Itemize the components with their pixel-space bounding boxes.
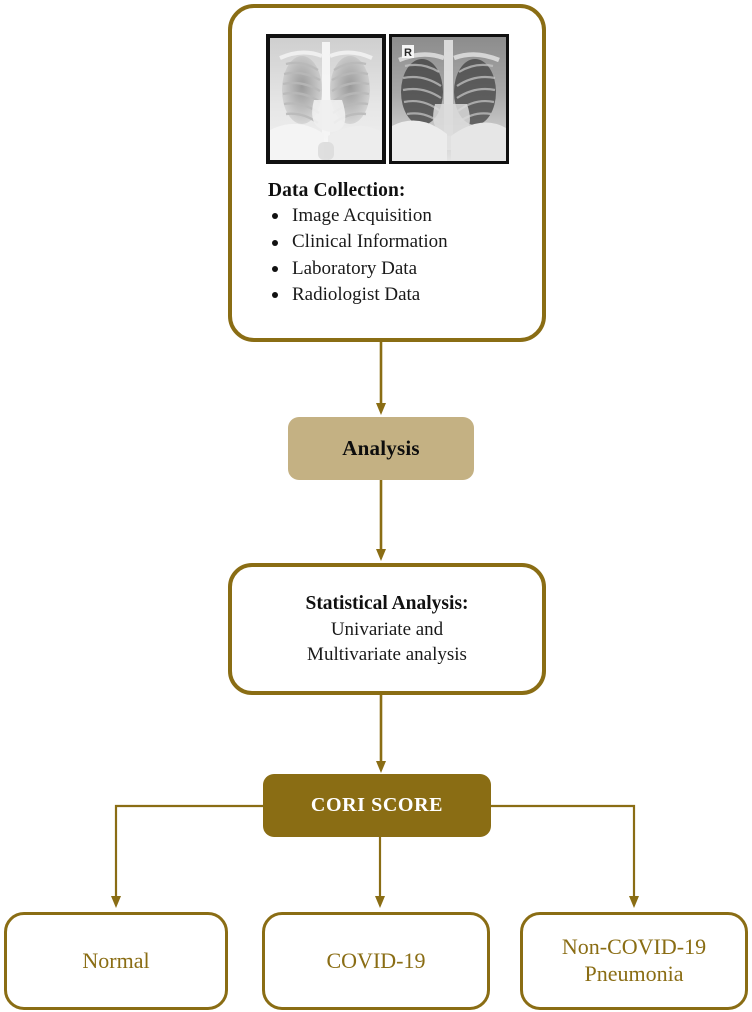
- data-collection-list: Image Acquisition Clinical Information L…: [268, 203, 542, 309]
- xray-image-pair: R: [266, 34, 509, 164]
- list-item: Image Acquisition: [268, 203, 542, 229]
- node-analysis: Analysis: [288, 417, 474, 480]
- outcome-covid19-label: COVID-19: [327, 948, 426, 975]
- chest-xray-right-image: R: [389, 34, 509, 164]
- list-item: Laboratory Data: [268, 256, 542, 282]
- chest-xray-left-image: [266, 34, 386, 164]
- node-outcome-covid19: COVID-19: [262, 912, 490, 1010]
- list-item-label: Clinical Information: [292, 231, 448, 252]
- outcome-non-covid-label: Non-COVID-19: [562, 934, 706, 961]
- list-item-label: Radiologist Data: [292, 284, 420, 305]
- statistical-analysis-line-2: Multivariate analysis: [307, 642, 467, 667]
- bullet-icon: [272, 292, 278, 298]
- node-outcome-normal: Normal: [4, 912, 228, 1010]
- analysis-label: Analysis: [342, 436, 419, 461]
- node-data-collection: R Data Collection: Image Acquisition Cli…: [228, 4, 546, 342]
- statistical-analysis-title: Statistical Analysis:: [305, 591, 468, 617]
- data-collection-title: Data Collection:: [268, 180, 542, 202]
- bullet-icon: [272, 213, 278, 219]
- list-item-label: Laboratory Data: [292, 258, 417, 279]
- statistical-analysis-line-1: Univariate and: [331, 617, 443, 642]
- flowchart-canvas: R Data Collection: Image Acquisition Cli…: [0, 0, 752, 1012]
- outcome-non-covid-label-2: Pneumonia: [585, 961, 684, 988]
- outcome-normal-label: Normal: [82, 948, 149, 975]
- node-cori-score: CORI SCORE: [263, 774, 491, 837]
- list-item-label: Image Acquisition: [292, 205, 432, 226]
- list-item: Clinical Information: [268, 229, 542, 255]
- cori-score-label: CORI SCORE: [311, 794, 443, 817]
- list-item: Radiologist Data: [268, 282, 542, 308]
- bullet-icon: [272, 240, 278, 246]
- arrow-cori-to-noncovid: [491, 806, 634, 898]
- svg-text:R: R: [404, 47, 412, 59]
- node-outcome-non-covid-pneumonia: Non-COVID-19 Pneumonia: [520, 912, 748, 1010]
- node-statistical-analysis: Statistical Analysis: Univariate and Mul…: [228, 563, 546, 695]
- bullet-icon: [272, 266, 278, 272]
- arrow-cori-to-normal: [116, 806, 263, 898]
